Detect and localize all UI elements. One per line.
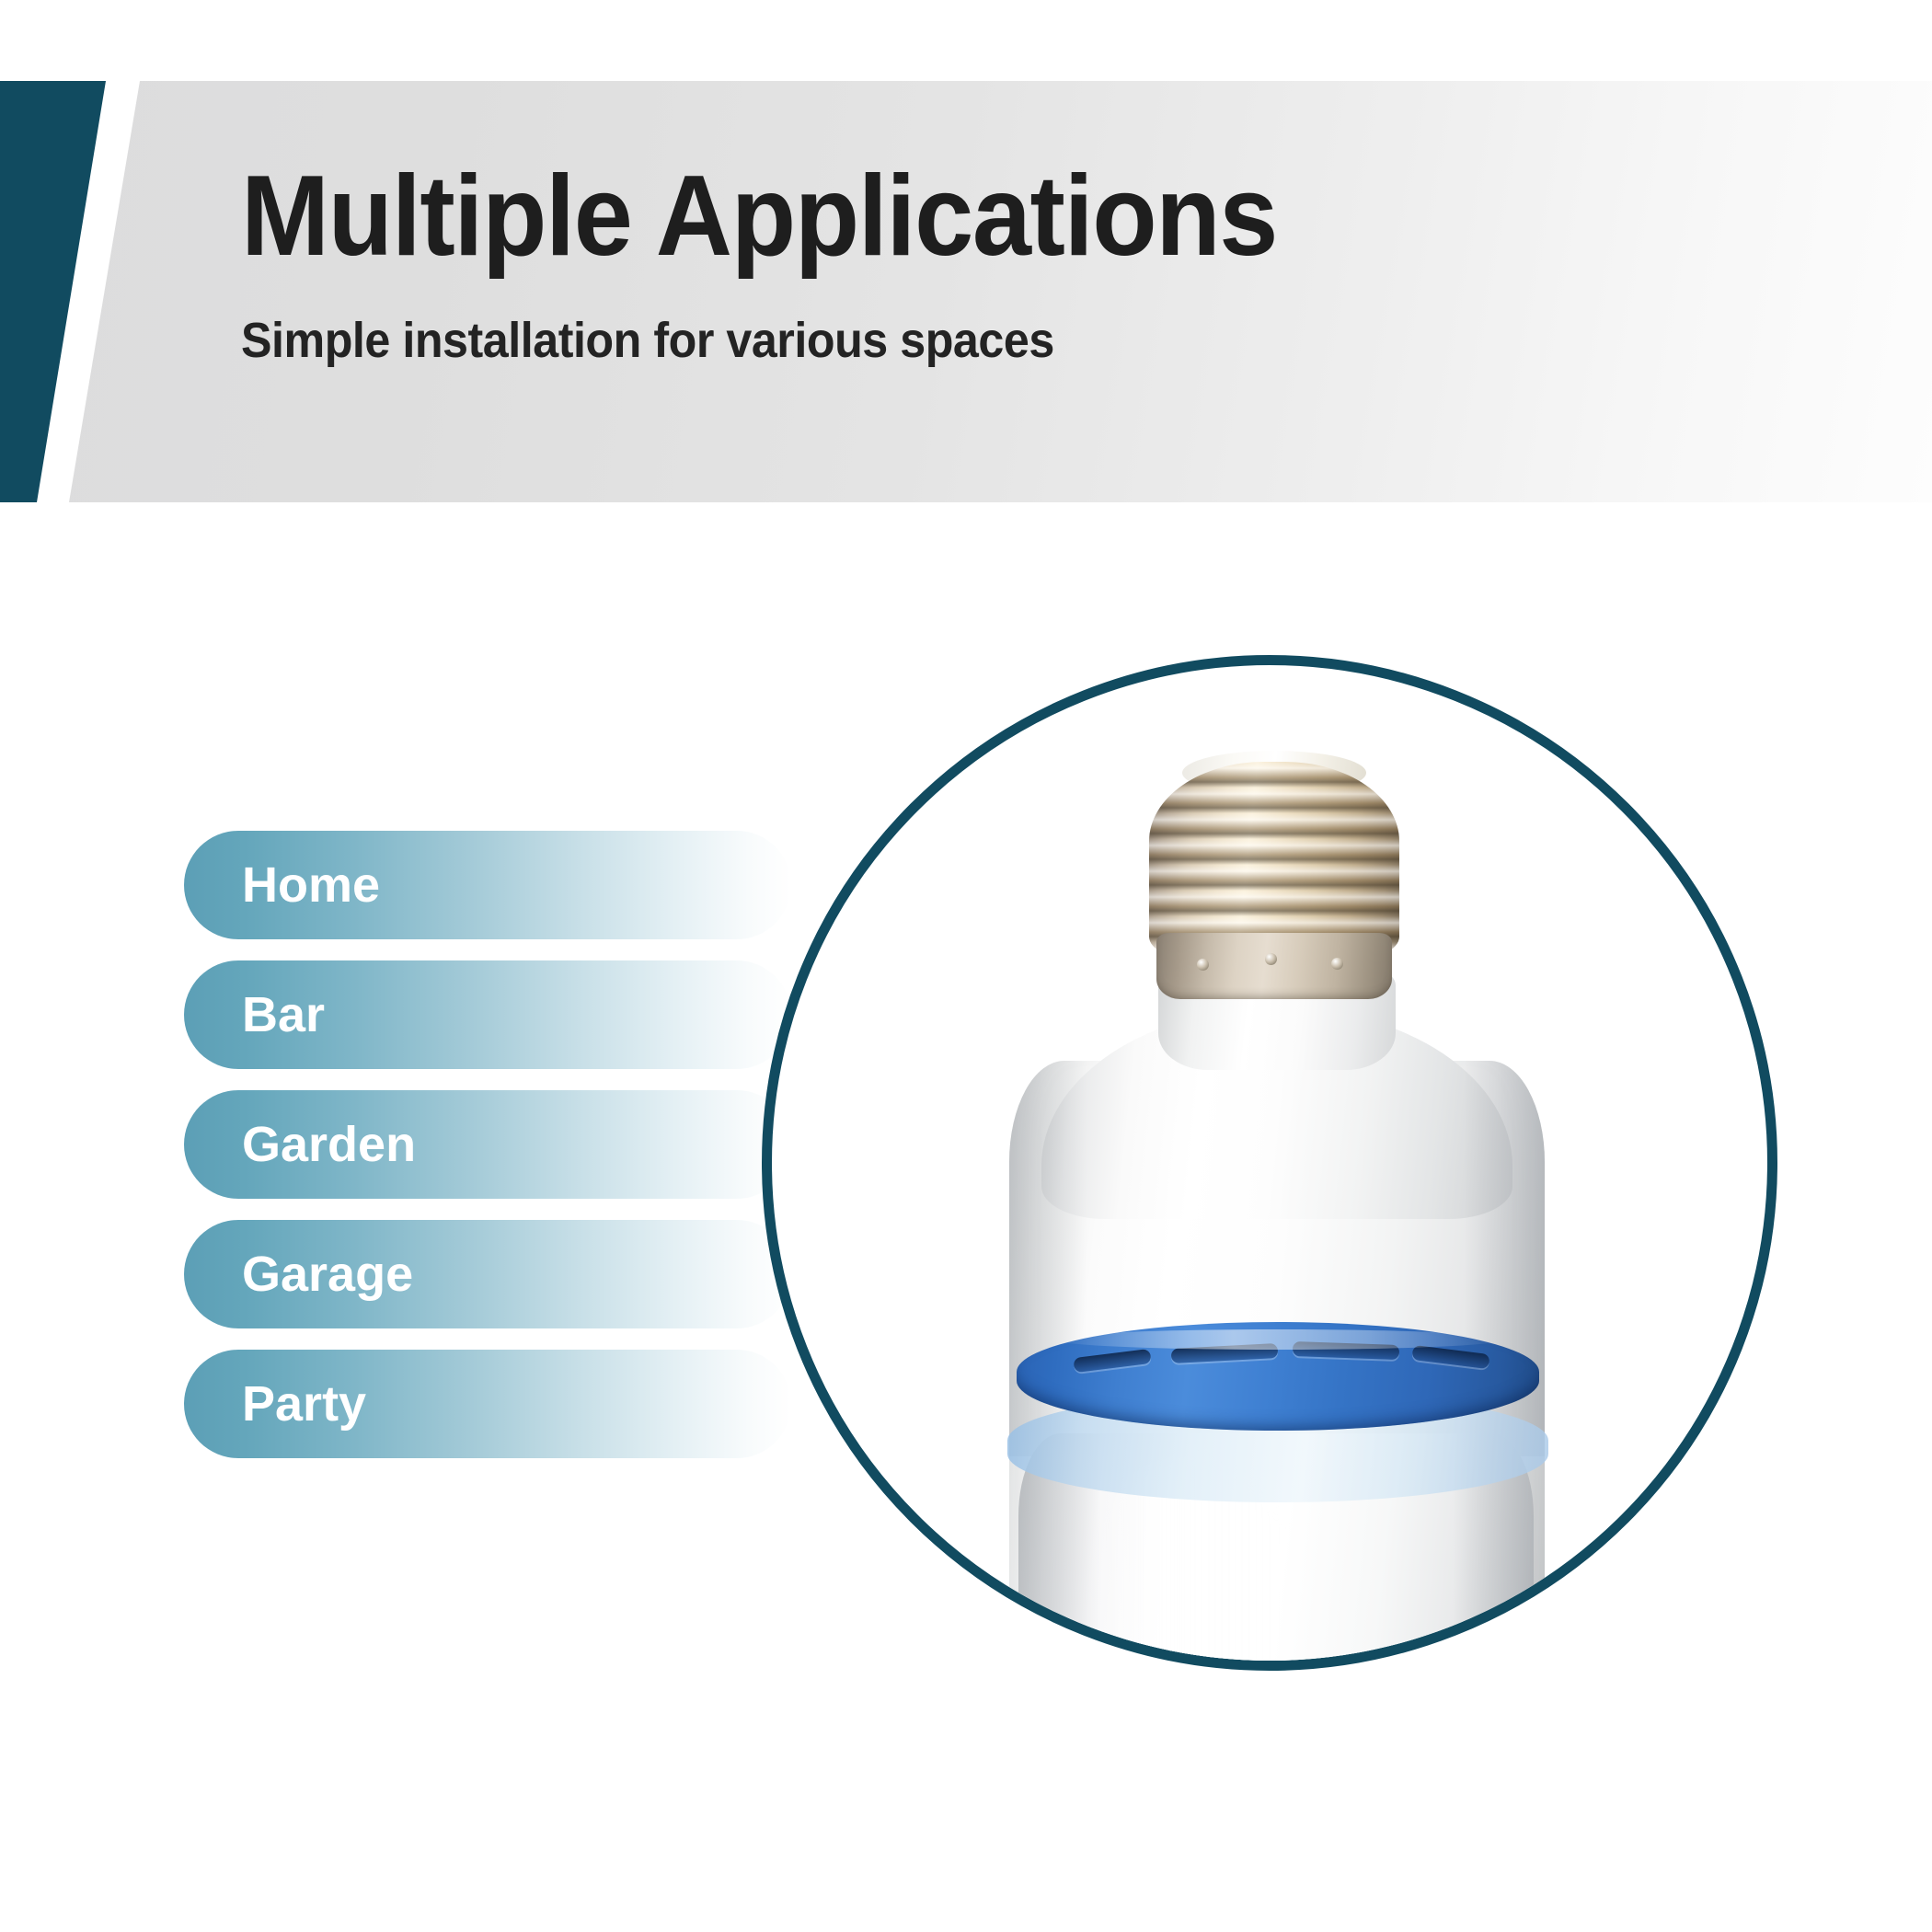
header-banner: Multiple Applications Simple installatio… — [0, 81, 1932, 502]
page-title: Multiple Applications — [241, 159, 1277, 273]
application-label: Garden — [242, 1116, 416, 1173]
application-list: Home Bar Garden Garage Party — [184, 831, 828, 1479]
application-label: Home — [242, 857, 380, 914]
application-pill-bar[interactable]: Bar — [184, 960, 791, 1069]
bulb-vent-ring-icon — [1017, 1322, 1539, 1431]
cap-threads-icon — [1149, 762, 1399, 960]
product-image-circle — [762, 655, 1777, 1671]
infographic-canvas: Multiple Applications Simple installatio… — [0, 0, 1932, 1932]
application-pill-garage[interactable]: Garage — [184, 1220, 791, 1328]
application-pill-home[interactable]: Home — [184, 831, 791, 939]
application-label: Garage — [242, 1246, 413, 1303]
vent-slot-icon — [1073, 1349, 1151, 1373]
cap-collar-icon — [1156, 933, 1392, 999]
vent-slot-icon — [1411, 1345, 1489, 1369]
application-label: Party — [242, 1375, 366, 1432]
header-text-group: Multiple Applications Simple installatio… — [241, 81, 1621, 502]
cap-rivet-icon — [1265, 953, 1277, 965]
application-pill-garden[interactable]: Garden — [184, 1090, 791, 1199]
application-label: Bar — [242, 986, 325, 1043]
e27-screw-cap-icon — [1149, 762, 1399, 994]
page-subtitle: Simple installation for various spaces — [241, 316, 1054, 365]
cap-rivet-icon — [1197, 959, 1209, 971]
vent-ring-gloss — [1053, 1329, 1504, 1350]
application-pill-party[interactable]: Party — [184, 1350, 791, 1458]
cap-rivet-icon — [1331, 958, 1343, 970]
led-bulb-photo — [772, 665, 1767, 1661]
